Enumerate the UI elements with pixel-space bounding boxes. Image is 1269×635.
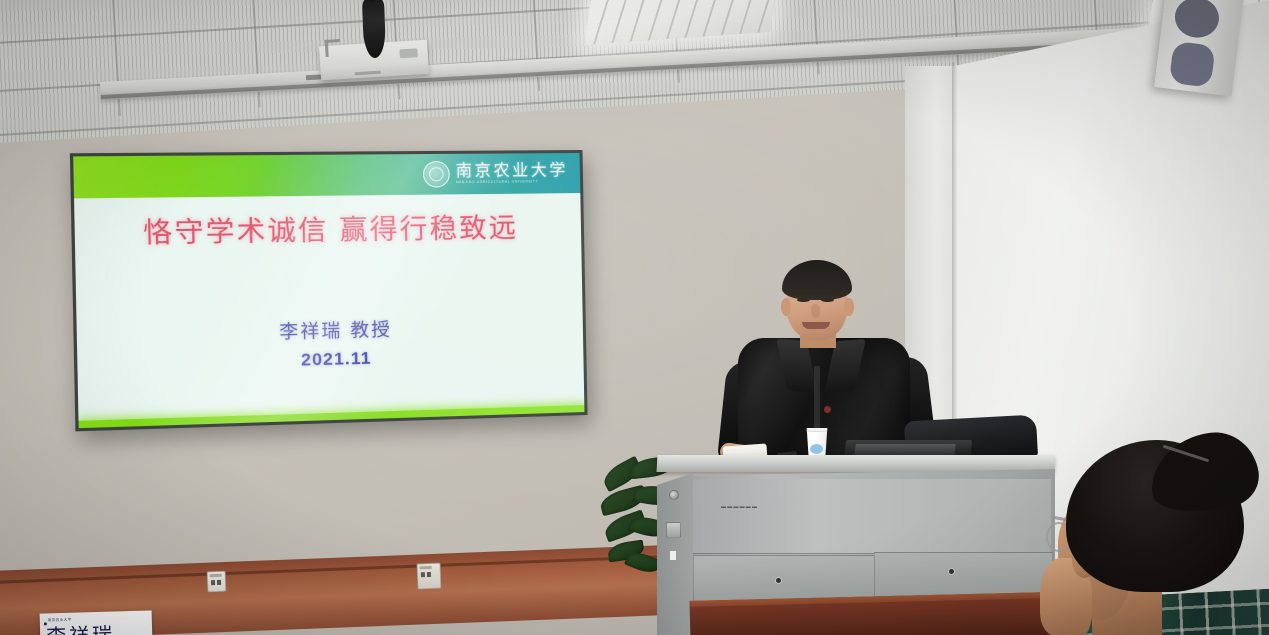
desk-nameplate: 南京农业大学 李祥瑞: [40, 610, 153, 635]
outlet-icon-2: [417, 563, 442, 590]
slide-header-band: 南京农业大学 NANJING AGRICULTURAL UNIVERSITY: [73, 153, 580, 198]
projection-screen: 南京农业大学 NANJING AGRICULTURAL UNIVERSITY 恪…: [70, 150, 588, 431]
wall-speaker-icon: [1154, 0, 1244, 96]
university-logo: 南京农业大学 NANJING AGRICULTURAL UNIVERSITY: [423, 159, 568, 188]
lecture-hall-photo: 南京农业大学 NANJING AGRICULTURAL UNIVERSITY 恪…: [0, 0, 1269, 635]
university-name-en: NANJING AGRICULTURAL UNIVERSITY: [456, 180, 568, 184]
slide-surface: 南京农业大学 NANJING AGRICULTURAL UNIVERSITY 恪…: [73, 153, 584, 428]
slide-presenter: 李祥瑞 教授: [77, 311, 584, 349]
university-name-cn: 南京农业大学: [456, 162, 568, 179]
slide-title: 恪守学术诚信 赢得行稳致远: [74, 205, 581, 252]
nameplate-name: 李祥瑞: [46, 618, 116, 635]
audience-figure: [1022, 440, 1269, 635]
outlet-icon: [207, 571, 227, 593]
podium-brand-label: ▬▬▬▬▬▬: [721, 504, 758, 510]
slide-date: 2021.11: [77, 343, 583, 377]
university-seal-icon: [423, 161, 450, 188]
